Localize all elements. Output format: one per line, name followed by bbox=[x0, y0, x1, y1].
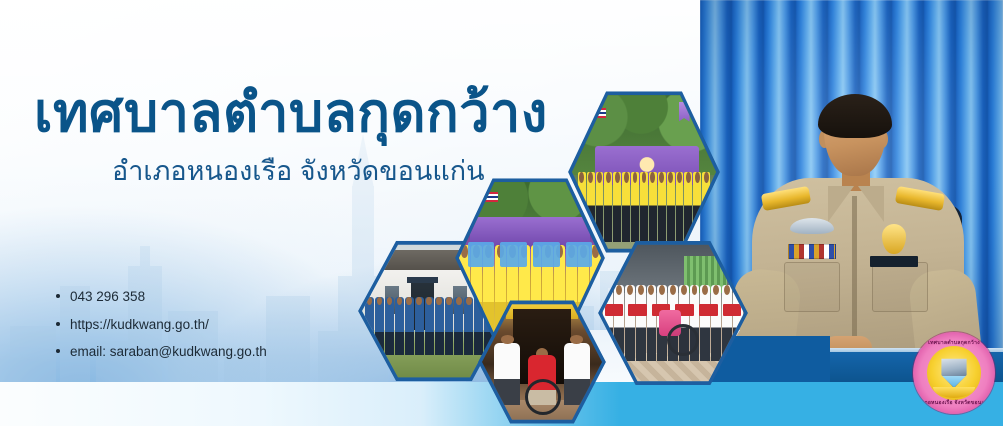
page-subtitle: อำเภอหนองเรือ จังหวัดขอนแก่น bbox=[112, 158, 485, 185]
municipality-seal-logo: เทศบาลตำบลกุดกว้าง อำเภอหนองเรือ จังหวัด… bbox=[913, 332, 995, 414]
seal-rim-text-bottom: อำเภอหนองเรือ จังหวัดขอนแก่น bbox=[913, 399, 995, 407]
hair bbox=[818, 94, 892, 138]
name-tag bbox=[870, 256, 918, 267]
contact-item-website[interactable]: https://kudkwang.go.th/ bbox=[56, 318, 267, 332]
municipality-hero-banner: เทศบาลตำบลกุดกว้าง อำเภอหนองเรือ จังหวัด… bbox=[0, 0, 1003, 426]
contact-list: 043 296 358 https://kudkwang.go.th/ emai… bbox=[56, 290, 267, 373]
shirt-placket bbox=[852, 196, 857, 346]
contact-item-email[interactable]: email: saraban@kudkwang.go.th bbox=[56, 345, 267, 359]
page-title: เทศบาลตำบลกุดกว้าง bbox=[34, 86, 548, 140]
service-ribbons bbox=[788, 244, 836, 259]
right-pocket bbox=[872, 262, 928, 312]
contact-item-phone: 043 296 358 bbox=[56, 290, 267, 304]
wing-badge-icon bbox=[790, 218, 834, 234]
collar-left bbox=[828, 186, 854, 222]
seal-ribbon bbox=[933, 387, 975, 398]
left-pocket bbox=[784, 262, 840, 312]
collar-right bbox=[858, 186, 884, 222]
